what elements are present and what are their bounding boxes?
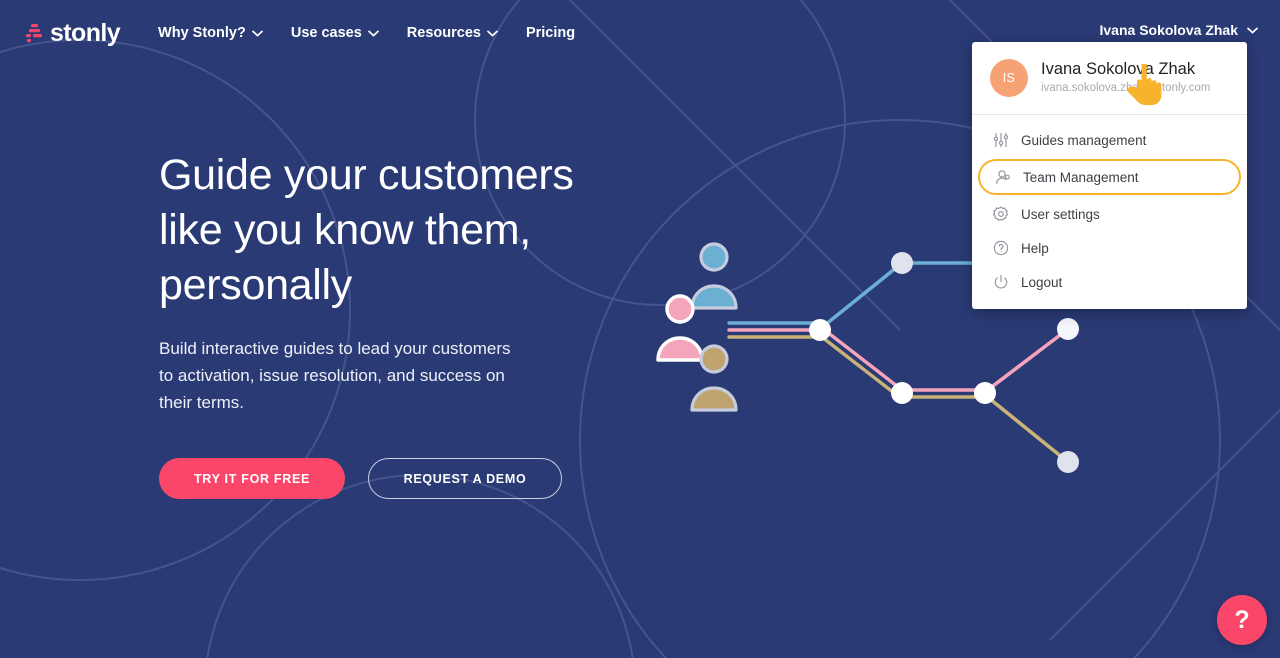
chevron-down-icon: [487, 30, 498, 37]
menu-item-logout[interactable]: Logout: [972, 265, 1247, 299]
stonly-logo-icon: [26, 23, 43, 43]
chevron-down-icon: [1247, 27, 1258, 34]
account-trigger-label: Ivana Sokolova Zhak: [1100, 22, 1239, 38]
stonly-logo-text: stonly: [50, 21, 120, 46]
nav-item-pricing[interactable]: Pricing: [526, 25, 575, 41]
chevron-down-icon: [368, 30, 379, 37]
menu-item-label: User settings: [1021, 206, 1100, 223]
nav-item-why-stonly[interactable]: Why Stonly?: [158, 25, 263, 41]
account-dropdown-panel: IS Ivana Sokolova Zhak ivana.sokolova.zh…: [972, 42, 1247, 309]
decor-circle-bottom-center: [205, 475, 635, 658]
hero-subtitle: Build interactive guides to lead your cu…: [159, 335, 529, 416]
primary-nav-links: Why Stonly? Use cases Resources Pricing: [158, 25, 575, 41]
hero-cta-group: TRY IT FOR FREE REQUEST A DEMO: [159, 458, 629, 499]
landing-page-root: stonly Why Stonly? Use cases Resources: [0, 0, 1280, 658]
edge-hub-to-top: [820, 263, 902, 329]
edge-mid-to-mid2: [902, 390, 985, 397]
sliders-icon: [992, 132, 1009, 149]
node-mid: [891, 382, 913, 404]
gear-icon: [992, 206, 1009, 223]
person-blue-icon: [692, 244, 736, 308]
node-upper-right: [1057, 318, 1079, 340]
user-outline-icon: [994, 169, 1011, 186]
help-bubble-button[interactable]: ?: [1217, 595, 1267, 645]
avatar: IS: [990, 59, 1028, 97]
menu-item-guides-management[interactable]: Guides management: [972, 123, 1247, 157]
stonly-logo[interactable]: stonly: [26, 21, 120, 46]
nav-label: Pricing: [526, 25, 575, 41]
question-circle-icon: [992, 240, 1009, 257]
nav-label: Resources: [407, 25, 481, 41]
menu-item-label: Team Management: [1023, 169, 1139, 186]
nav-item-use-cases[interactable]: Use cases: [291, 25, 379, 41]
chevron-down-icon: [252, 30, 263, 37]
edge-mid2-to-lower-right: [985, 395, 1068, 462]
node-lower-right: [1057, 451, 1079, 473]
menu-item-label: Help: [1021, 240, 1049, 257]
power-icon: [992, 274, 1009, 291]
node-mid2: [974, 382, 996, 404]
menu-item-team-management[interactable]: Team Management: [978, 159, 1241, 195]
menu-item-label: Logout: [1021, 274, 1062, 291]
account-dropdown-header: IS Ivana Sokolova Zhak ivana.sokolova.zh…: [972, 42, 1247, 115]
edge-mid2-to-upper-right: [985, 329, 1068, 392]
account-menu-trigger[interactable]: Ivana Sokolova Zhak: [1100, 22, 1259, 38]
hero-section: Guide your customers like you know them,…: [159, 148, 629, 499]
account-identity: Ivana Sokolova Zhak ivana.sokolova.zhak@…: [1041, 59, 1210, 97]
menu-item-help[interactable]: Help: [972, 231, 1247, 265]
node-top: [891, 252, 913, 274]
nav-label: Why Stonly?: [158, 25, 246, 41]
account-email: ivana.sokolova.zhak@stonly.com: [1041, 80, 1210, 97]
node-hub: [809, 319, 831, 341]
request-a-demo-button[interactable]: REQUEST A DEMO: [368, 458, 562, 499]
nav-item-resources[interactable]: Resources: [407, 25, 498, 41]
hero-title: Guide your customers like you know them,…: [159, 148, 629, 313]
account-menu-list: Guides management Team Management: [972, 115, 1247, 309]
try-it-for-free-button[interactable]: TRY IT FOR FREE: [159, 458, 345, 499]
nav-label: Use cases: [291, 25, 362, 41]
menu-item-label: Guides management: [1021, 132, 1146, 149]
menu-item-user-settings[interactable]: User settings: [972, 197, 1247, 231]
edge-hub-to-mid: [818, 328, 902, 396]
question-mark-icon: ?: [1234, 606, 1249, 635]
account-name: Ivana Sokolova Zhak: [1041, 59, 1210, 79]
edge-trunk: [729, 323, 820, 337]
